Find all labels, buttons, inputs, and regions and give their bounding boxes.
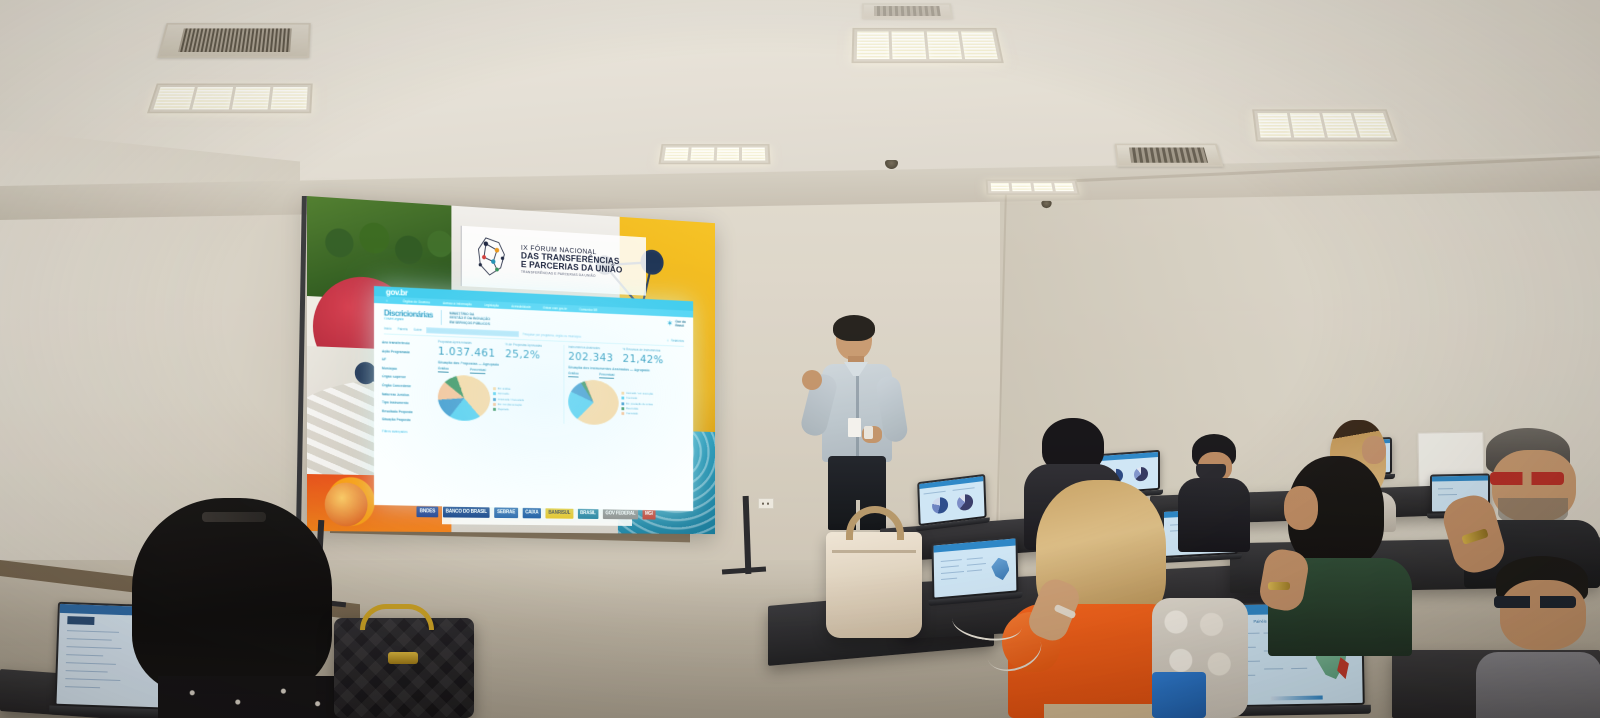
presenter-speaking bbox=[800, 318, 910, 530]
reports-link[interactable]: Relatórios bbox=[671, 339, 684, 343]
filter-orgao-sup[interactable]: Órgão Superior bbox=[382, 375, 433, 381]
wristwatch bbox=[1268, 582, 1290, 590]
ceiling-light-panel bbox=[986, 179, 1080, 194]
legend-label: Cancelado bbox=[626, 412, 638, 415]
nav-item-3[interactable]: Acessibilidade bbox=[511, 304, 530, 309]
nav-item-5[interactable]: Comunica BR bbox=[579, 307, 597, 312]
legend-swatch bbox=[493, 398, 496, 401]
filter-municipio[interactable]: Município bbox=[382, 366, 433, 372]
legend-item: Rescindido bbox=[621, 407, 653, 411]
attendee-right-front bbox=[1470, 556, 1600, 718]
chart-row-instrumentos: Assinado / em execuçãoConcluídoEm presta… bbox=[568, 379, 686, 427]
attendee-face bbox=[1284, 486, 1318, 530]
dashboard-content: Propostas Apresentadas 1.037.461 % de Pr… bbox=[438, 340, 686, 442]
nav-item-4[interactable]: Entrar com gov.br bbox=[543, 305, 567, 310]
hvac-vent bbox=[1115, 144, 1224, 167]
event-title-block: IX FÓRUM NACIONAL DAS TRANSFERÊNCIAS E P… bbox=[461, 226, 646, 296]
star-icon: ✶ bbox=[666, 319, 673, 328]
projected-dashboard-slide: gov.br ⌂ Órgãos do Governo Acesso à Info… bbox=[374, 286, 693, 511]
attendee-hair bbox=[132, 498, 332, 694]
kpi-percent-recursos: % Recursos de Instrumentos 21,42% bbox=[623, 347, 664, 366]
advanced-filters-link[interactable]: Filtros avançados bbox=[382, 429, 433, 434]
filter-tipo[interactable]: Tipo Instrumento bbox=[382, 400, 433, 406]
pie-chart-propostas bbox=[438, 374, 490, 421]
ceiling-light-panel bbox=[658, 144, 770, 164]
power-outlet bbox=[758, 498, 774, 509]
conference-room-photo: IX FÓRUM NACIONAL DAS TRANSFERÊNCIAS E P… bbox=[0, 0, 1600, 718]
name-badge bbox=[848, 418, 861, 437]
ceiling-light-panel bbox=[851, 28, 1003, 63]
brand-divider bbox=[441, 310, 442, 325]
filter-natureza[interactable]: Natureza Jurídica bbox=[382, 392, 433, 398]
filter-acao[interactable]: Ação Programada bbox=[382, 349, 433, 355]
home-icon[interactable]: ⌂ bbox=[386, 298, 388, 302]
legend-swatch bbox=[621, 412, 624, 415]
legend-item: Em prestação de contas bbox=[621, 402, 653, 406]
attendee-green-top bbox=[1262, 456, 1412, 656]
pie-chart-instrumentos bbox=[568, 379, 618, 425]
subtab-grafico[interactable]: Gráfico bbox=[438, 366, 449, 372]
nav-item-0[interactable]: Órgãos do Governo bbox=[403, 299, 430, 304]
legend-item: Em complementação bbox=[493, 403, 524, 407]
attendee-body bbox=[1476, 652, 1600, 718]
attendee-body bbox=[158, 676, 348, 718]
legend-label: Em análise bbox=[498, 387, 511, 390]
subtab-grafico[interactable]: Gráfico bbox=[568, 371, 579, 377]
kpi-instrumentos-assinados: Instrumentos Assinados 202.343 bbox=[568, 345, 613, 364]
kpi-value: 21,42% bbox=[623, 352, 664, 366]
bag-clasp bbox=[388, 652, 418, 664]
attendee-front-left bbox=[118, 498, 348, 718]
pie-legend-instrumentos: Assinado / em execuçãoConcluídoEm presta… bbox=[621, 392, 653, 416]
laptop[interactable] bbox=[917, 474, 987, 530]
filter-ano[interactable]: Ano transferência bbox=[382, 340, 433, 346]
sponsor-logo: CAIXA bbox=[522, 507, 541, 518]
tab-inicio[interactable]: Início bbox=[384, 326, 392, 330]
download-icon[interactable]: ⇩ bbox=[667, 338, 669, 342]
ceiling-light-panel bbox=[1252, 109, 1398, 141]
kpi-value: 25,2% bbox=[505, 347, 542, 361]
blue-bag bbox=[1152, 672, 1206, 718]
legend-item: Rejeitada bbox=[493, 408, 524, 412]
ministry-line3: EM SERVIÇOS PÚBLICOS bbox=[449, 320, 490, 326]
sponsor-logo: BANCO DO BRASIL bbox=[443, 506, 490, 517]
black-quilted-handbag bbox=[334, 618, 474, 718]
legend-label: Em complementação bbox=[498, 403, 522, 407]
kpi-value: 1.037.461 bbox=[438, 345, 496, 360]
nav-item-1[interactable]: Acesso à Informação bbox=[443, 301, 472, 306]
tab-sobre[interactable]: Sobre bbox=[414, 328, 422, 332]
kpi-row-right: Instrumentos Assinados 202.343 % Recurso… bbox=[568, 345, 686, 367]
kpi-propostas-apresentadas: Propostas Apresentadas 1.037.461 bbox=[438, 340, 496, 360]
app-logo[interactable]: Discricionárias Gov.br Legado bbox=[384, 309, 433, 323]
hvac-vent bbox=[157, 23, 311, 58]
presenter-shirt-placket bbox=[856, 370, 859, 458]
sponsor-logo: BNDES bbox=[417, 506, 438, 517]
beige-handbag bbox=[826, 532, 922, 638]
legend-swatch bbox=[621, 407, 624, 410]
filter-orgao-conc[interactable]: Órgão Concedente bbox=[382, 383, 433, 389]
legend-label: Assinado / em execução bbox=[626, 392, 653, 396]
search-placeholder: Pesquise por programa, órgão ou municípi… bbox=[522, 332, 581, 338]
filter-resultado[interactable]: Resultado Proposta bbox=[382, 409, 433, 415]
legend-item: Cancelado bbox=[621, 412, 653, 416]
presenter-hair bbox=[833, 315, 875, 341]
hvac-vent bbox=[862, 3, 953, 19]
legend-swatch bbox=[621, 402, 624, 405]
brasil-line2: Brasil bbox=[675, 323, 684, 327]
legend-label: Concluído bbox=[626, 397, 637, 400]
legend-label: Rescindido bbox=[626, 407, 638, 410]
brasil-logo: ✶ Gov do Brasil bbox=[666, 319, 685, 329]
handbag-zipper bbox=[832, 550, 916, 553]
kpi-row-left: Propostas Apresentadas 1.037.461 % de Pr… bbox=[438, 340, 560, 363]
legend-item: Assinado / em execução bbox=[621, 392, 653, 396]
glasses-icon bbox=[1490, 472, 1564, 485]
presenter-hand-raised bbox=[802, 370, 822, 390]
brasil-logo-text: Gov do Brasil bbox=[675, 320, 686, 328]
attendee-face bbox=[1500, 580, 1586, 650]
legend-swatch bbox=[493, 392, 496, 395]
brazil-nodes-icon bbox=[467, 231, 515, 284]
legend-label: Rejeitada bbox=[498, 408, 509, 411]
filter-sidebar: Ano transferência Ação Programada UF Mun… bbox=[382, 337, 433, 434]
gold-chain bbox=[360, 604, 434, 630]
hair-clip bbox=[202, 512, 266, 522]
tab-paineis[interactable]: Painéis bbox=[397, 327, 407, 331]
legend-swatch bbox=[493, 387, 496, 390]
subtab-percentual[interactable]: Percentual bbox=[599, 372, 614, 378]
kpi-section: Propostas Apresentadas 1.037.461 % de Pr… bbox=[438, 340, 686, 428]
filter-situacao[interactable]: Situação Proposta bbox=[382, 418, 433, 424]
legend-item: Aprovada bbox=[493, 392, 524, 396]
sponsor-logo: SEBRAE bbox=[494, 507, 518, 518]
legend-item: Arquivada / Cancelada bbox=[493, 398, 524, 402]
ministry-label: MINISTÉRIO DA GESTÃO E DA INOVAÇÃO EM SE… bbox=[449, 312, 490, 326]
pie-legend-propostas: Em análiseAprovadaArquivada / CanceladaE… bbox=[493, 387, 524, 411]
filter-uf[interactable]: UF bbox=[382, 357, 433, 363]
dashboard-main: Ano transferência Ação Programada UF Mun… bbox=[374, 334, 693, 442]
dashboard-body: Discricionárias Gov.br Legado MINISTÉRIO… bbox=[374, 303, 693, 511]
kpi-percent-aprovadas: % de Propostas Aprovadas 25,2% bbox=[505, 342, 542, 361]
legend-item: Concluído bbox=[621, 397, 653, 401]
panel-propostas: Propostas Apresentadas 1.037.461 % de Pr… bbox=[438, 340, 560, 424]
legend-label: Arquivada / Cancelada bbox=[498, 398, 524, 402]
chart-row-propostas: Em análiseAprovadaArquivada / CanceladaE… bbox=[438, 374, 560, 423]
panel-instrumentos: Instrumentos Assinados 202.343 % Recurso… bbox=[568, 345, 686, 428]
sponsor-logo: BRASIL bbox=[577, 508, 598, 519]
subtab-percentual[interactable]: Percentual bbox=[470, 368, 486, 375]
laptop-screen bbox=[919, 476, 984, 524]
attendee-skirt bbox=[1044, 704, 1164, 718]
panel-divider bbox=[563, 345, 564, 424]
legend-swatch bbox=[493, 408, 496, 411]
dashboard-tabs: Início Painéis Sobre bbox=[384, 326, 422, 332]
nav-item-2[interactable]: Legislação bbox=[484, 303, 499, 308]
sponsor-logo: BANRISUL bbox=[546, 507, 573, 518]
legend-label: Em prestação de contas bbox=[626, 402, 653, 406]
remote-clicker bbox=[864, 426, 873, 439]
kpi-value: 202.343 bbox=[568, 350, 613, 364]
legend-swatch bbox=[621, 397, 624, 400]
legend-swatch bbox=[493, 403, 496, 406]
legend-label: Aprovada bbox=[498, 393, 509, 396]
glasses-icon bbox=[1494, 596, 1576, 608]
legend-swatch bbox=[621, 392, 624, 395]
ceiling-light-panel bbox=[147, 84, 313, 114]
legend-item: Em análise bbox=[493, 387, 524, 391]
